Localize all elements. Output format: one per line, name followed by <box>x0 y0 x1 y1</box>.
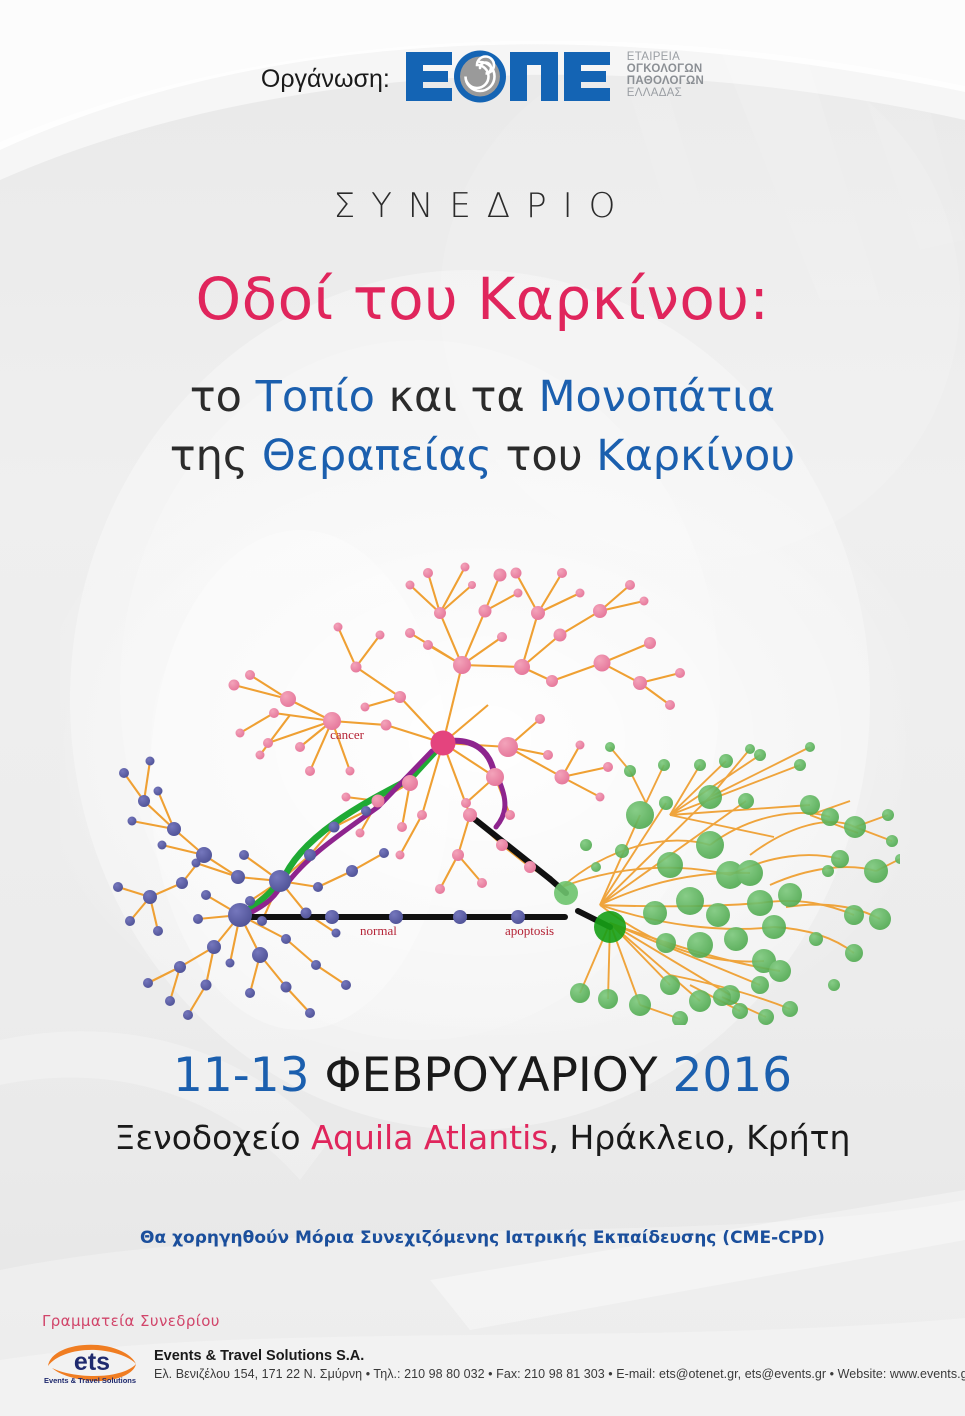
label-cancer: cancer <box>330 727 365 742</box>
subtitle-seg-1d: Μονοπάτια <box>538 372 775 422</box>
eope-logomark-icon <box>404 46 620 106</box>
label-apoptosis: apoptosis <box>505 923 554 938</box>
subtitle-seg-2a: της <box>170 431 262 481</box>
event-venue: Ξενοδοχείο Aquila Atlantis, Ηράκλειο, Κρ… <box>0 1118 965 1157</box>
conference-poster: Οργάνωση: ΕΤΑΙΡΕΙΑ ΟΓΚΟΛΟΓΩΝ ΠΑΘΟΛΟΓΩΝ Ε… <box>0 0 965 1416</box>
subtitle-seg-1a: το <box>190 372 256 422</box>
organizer-label: Οργάνωση: <box>261 65 390 94</box>
eope-subtitle-block: ΕΤΑΙΡΕΙΑ ΟΓΚΟΛΟΓΩΝ ΠΑΘΟΛΟΓΩΝ ΕΛΛΑΔΑΣ <box>627 52 704 100</box>
cancer-hub-node <box>431 731 456 756</box>
ets-info: Events & Travel Solutions S.A. Ελ. Βενιζ… <box>154 1346 965 1381</box>
subtitle-seg-2b: Θεραπείας <box>262 431 492 481</box>
subtitle-seg-2c: του <box>492 431 596 481</box>
cancer-nodes <box>229 563 686 895</box>
apoptosis-hub-node <box>594 911 626 943</box>
subtitle-line-1: το Τοπίο και τα Μονοπάτια <box>0 368 965 427</box>
cme-note: Θα χορηγηθούν Μόρια Συνεχιζόμενης Ιατρικ… <box>0 1228 965 1248</box>
subtitle-seg-1b: Τοπίο <box>256 372 375 422</box>
subtitle-line-2: της Θεραπείας του Καρκίνου <box>0 427 965 486</box>
company-contact: Ελ. Βενιζέλου 154, 171 22 Ν. Σμύρνη • Τη… <box>154 1367 965 1381</box>
label-normal: normal <box>360 923 397 938</box>
date-range: 11-13 <box>173 1048 310 1103</box>
poster-header: Οργάνωση: ΕΤΑΙΡΕΙΑ ΟΓΚΟΛΟΓΩΝ ΠΑΘΟΛΟΓΩΝ Ε… <box>0 46 965 106</box>
path-cancer-to-apoptosis-black <box>472 817 550 879</box>
company-name: Events & Travel Solutions S.A. <box>154 1348 965 1364</box>
page-subtitle: το Τοπίο και τα Μονοπάτια της Θεραπείας … <box>0 368 965 487</box>
subtitle-seg-1c: και τα <box>375 372 538 422</box>
secretariat-details: ets Events & Travel Solutions Events & T… <box>40 1338 965 1388</box>
date-year: 2016 <box>672 1048 792 1103</box>
cancer-edges <box>234 567 680 889</box>
network-figure: cancer normal apoptosis <box>110 515 900 1025</box>
ets-mark-text: ets <box>74 1348 110 1376</box>
highlighted-paths <box>242 741 610 927</box>
page-title: Οδοί του Καρκίνου: <box>0 265 965 333</box>
apoptosis-nodes <box>554 742 900 1025</box>
normal-hub-node <box>228 903 252 927</box>
kicker-text: ΣΥΝΕΔΡΙΟ <box>0 186 965 226</box>
eope-subtitle-line-4: ΕΛΛΑΔΑΣ <box>627 88 704 100</box>
apoptosis-entry-node <box>554 881 578 905</box>
eope-logo: ΕΤΑΙΡΕΙΑ ΟΓΚΟΛΟΓΩΝ ΠΑΘΟΛΟΓΩΝ ΕΛΛΑΔΑΣ <box>404 46 704 106</box>
venue-prefix: Ξενοδοχείο <box>115 1118 311 1157</box>
date-month: ΦΕΒΡΟΥΑΡΙΟΥ <box>310 1048 673 1103</box>
ets-logomark-icon: ets Events & Travel Solutions <box>40 1338 144 1388</box>
normal-upper-hub-node <box>269 870 291 892</box>
ets-logo: ets Events & Travel Solutions <box>40 1338 144 1388</box>
event-dateline: 11-13 ΦΕΒΡΟΥΑΡΙΟΥ 2016 <box>0 1048 965 1103</box>
network-graph-svg: cancer normal apoptosis <box>110 515 900 1025</box>
ets-tagline: Events & Travel Solutions <box>44 1376 136 1385</box>
secretariat-label: Γραμματεία Συνεδρίου <box>42 1312 220 1330</box>
venue-name: Aquila Atlantis <box>311 1118 548 1157</box>
subtitle-seg-2d: Καρκίνου <box>596 431 795 481</box>
venue-suffix: , Ηράκλειο, Κρήτη <box>548 1118 850 1157</box>
path-cancer-loop2-purple <box>496 783 505 827</box>
